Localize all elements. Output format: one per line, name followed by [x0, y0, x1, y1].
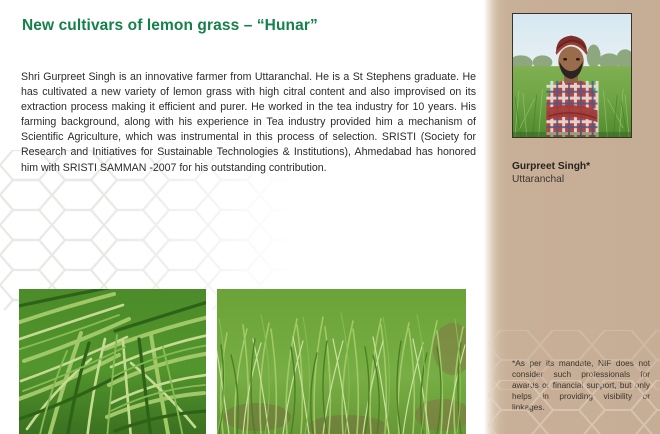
- right-sidebar: Gurpreet Singh* Uttaranchal *As per its …: [484, 0, 660, 434]
- caption-place: Uttaranchal: [512, 173, 652, 186]
- lemon-grass-field-photo: [217, 289, 466, 434]
- page-root: New cultivars of lemon grass – “Hunar” S…: [0, 0, 660, 434]
- portrait-caption: Gurpreet Singh* Uttaranchal: [512, 160, 652, 186]
- caption-name: Gurpreet Singh*: [512, 160, 652, 173]
- farmer-portrait-photo: [512, 13, 632, 138]
- footnote-text: *As per its mandate, NIF does not consid…: [512, 358, 650, 413]
- page-title: New cultivars of lemon grass – “Hunar”: [22, 17, 318, 35]
- body-paragraph: Shri Gurpreet Singh is an innovative far…: [21, 70, 476, 176]
- lemon-grass-leaves-closeup-photo: [19, 289, 206, 434]
